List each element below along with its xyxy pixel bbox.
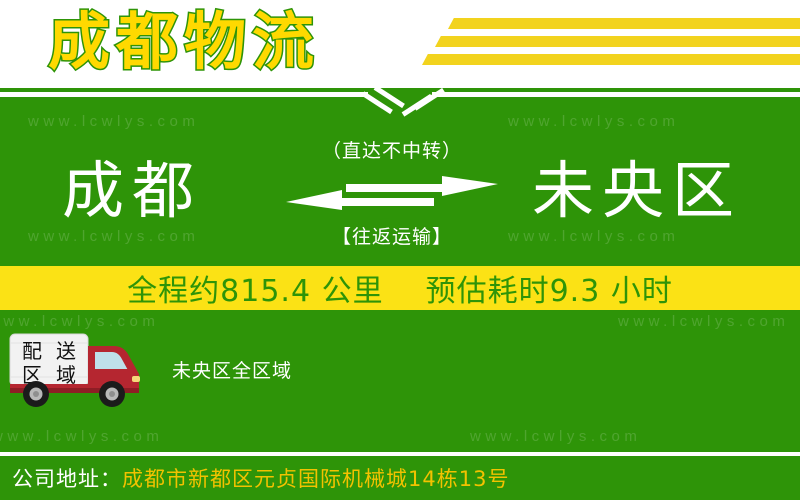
- chevron-down-icon: [356, 88, 444, 123]
- direct-service-note: （直达不中转）: [286, 136, 498, 163]
- watermark: www.lcwlys.com: [470, 428, 641, 445]
- stripe-3: [422, 54, 800, 65]
- logistics-route-banner: 成都物流 www.lcwlys.com www.lcwlys.com www.l…: [0, 0, 800, 500]
- stripe-1: [448, 18, 800, 29]
- delivery-truck-icon: 配 送 区 域: [8, 330, 158, 408]
- bidirectional-arrow-icon: [286, 172, 498, 216]
- origin-city: 成都: [62, 124, 202, 258]
- truck-box-char-1: 配: [22, 339, 42, 363]
- truck-box-char-4: 域: [56, 363, 76, 387]
- route-middle: （直达不中转） 【往返运输】: [286, 130, 498, 254]
- footer-address-bar: 公司地址： 成都市新都区元贞国际机械城14栋13号: [0, 456, 800, 500]
- delivery-area-label: 未央区全区域: [172, 356, 292, 383]
- watermark: www.lcwlys.com: [0, 428, 163, 445]
- truck-box-char-2: 送: [56, 339, 76, 363]
- company-address-label: 公司地址：: [12, 463, 122, 493]
- stripe-2: [435, 36, 800, 47]
- header-divider: [0, 88, 800, 124]
- banner-header: 成都物流: [0, 0, 800, 88]
- divider-line-right: [432, 92, 800, 97]
- total-distance: 全程约815.4 公里: [127, 266, 383, 310]
- brand-title: 成都物流: [48, 0, 320, 86]
- delivery-section: 配 送 区 域 未央区全区域: [0, 326, 800, 412]
- route-section: 成都 （直达不中转） 【往返运输】 未央区: [0, 124, 800, 258]
- decorative-stripes: [402, 14, 800, 74]
- round-trip-note: 【往返运输】: [286, 222, 498, 249]
- divider-line-left: [0, 92, 368, 97]
- destination-city: 未央区: [532, 124, 742, 258]
- company-address-value: 成都市新都区元贞国际机械城14栋13号: [122, 463, 509, 493]
- route-info-bar: 全程约815.4 公里 预估耗时9.3 小时: [0, 266, 800, 310]
- estimated-duration: 预估耗时9.3 小时: [426, 266, 673, 310]
